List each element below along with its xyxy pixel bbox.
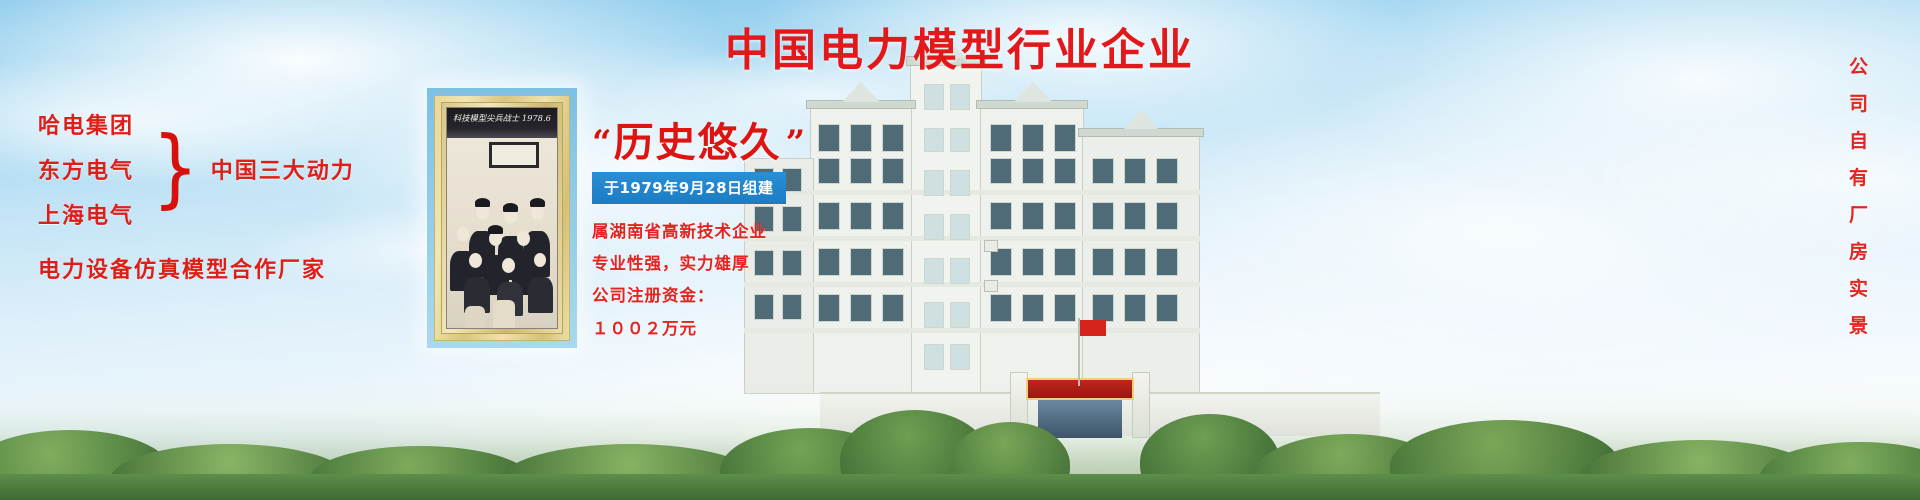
photo-banner-strip: 科技模型尖兵战士 1978.6 (447, 108, 557, 138)
ac-unit (984, 280, 998, 292)
brands-brace-row: 哈电集团 东方电气 上海电气 } 中国三大动力 (38, 108, 368, 230)
brand-item-0: 哈电集团 (38, 108, 134, 140)
vertical-char-6: 实 (1849, 280, 1868, 299)
building-tower (910, 64, 982, 394)
description-line-3: １００２万元 (592, 313, 842, 345)
gate-entrance (1038, 400, 1122, 438)
photo-frame-gold-outer: 科技模型尖兵战士 1978.6 (434, 95, 570, 341)
description-list: 属湖南省高新技术企业 专业性强，实力雄厚 公司注册资金： １００２万元 (592, 216, 842, 345)
headline-label: 历史悠久 (614, 122, 782, 164)
description-line-1: 专业性强，实力雄厚 (592, 248, 842, 280)
right-wing-gable (1014, 82, 1052, 102)
far-right-roof (1078, 128, 1204, 137)
headline-row: “ 历史悠久 ” (592, 122, 842, 164)
quote-open-icon: “ (592, 126, 612, 160)
photo-frame-gold-inner: 科技模型尖兵战士 1978.6 (441, 102, 563, 334)
vertical-char-1: 司 (1849, 95, 1868, 114)
vertical-char-7: 景 (1849, 317, 1868, 336)
vertical-char-2: 自 (1849, 132, 1868, 151)
brand-list: 哈电集团 东方电气 上海电气 (38, 108, 134, 230)
right-vertical-caption: 公 司 自 有 厂 房 实 景 (1849, 58, 1868, 354)
vertical-char-5: 房 (1849, 243, 1868, 262)
curly-brace-icon: } (152, 132, 199, 205)
national-flag (1080, 320, 1106, 336)
vintage-group-photo: 科技模型尖兵战士 1978.6 (446, 107, 558, 329)
partner-factory-label: 电力设备仿真模型合作厂家 (38, 252, 368, 284)
center-text-block: “ 历史悠久 ” 于1979年9月28日组建 属湖南省高新技术企业 专业性强，实… (592, 122, 842, 345)
ac-unit (984, 240, 998, 252)
page-title: 中国电力模型行业企业 (725, 14, 1195, 78)
banner-title-row: 中国电力模型行业企业 (0, 14, 1920, 78)
far-right-gable (1124, 110, 1158, 129)
vertical-char-3: 有 (1849, 169, 1868, 188)
brand-item-1: 东方电气 (38, 153, 134, 185)
brace-summary-label: 中国三大动力 (211, 153, 355, 185)
left-wing-gable (842, 82, 880, 102)
photo-wall-board (489, 142, 540, 168)
photo-frame: 科技模型尖兵战士 1978.6 (427, 88, 577, 348)
gate-signboard (1026, 378, 1134, 400)
company-history-banner: 哈电集团 东方电气 上海电气 } 中国三大动力 电力设备仿真模型合作厂家 科技模… (0, 0, 1920, 500)
brand-item-2: 上海电气 (38, 198, 134, 230)
vertical-char-4: 厂 (1849, 206, 1868, 225)
photo-caption: 科技模型尖兵战士 1978.6 (453, 112, 545, 124)
quote-close-icon: ” (786, 126, 806, 160)
hedge-row (0, 474, 1920, 500)
description-line-2: 公司注册资金： (592, 280, 842, 312)
gate-post-right (1132, 372, 1150, 438)
founded-date-badge: 于1979年9月28日组建 (592, 172, 786, 204)
description-line-0: 属湖南省高新技术企业 (592, 216, 842, 248)
left-text-block: 哈电集团 东方电气 上海电气 } 中国三大动力 电力设备仿真模型合作厂家 (38, 108, 368, 284)
